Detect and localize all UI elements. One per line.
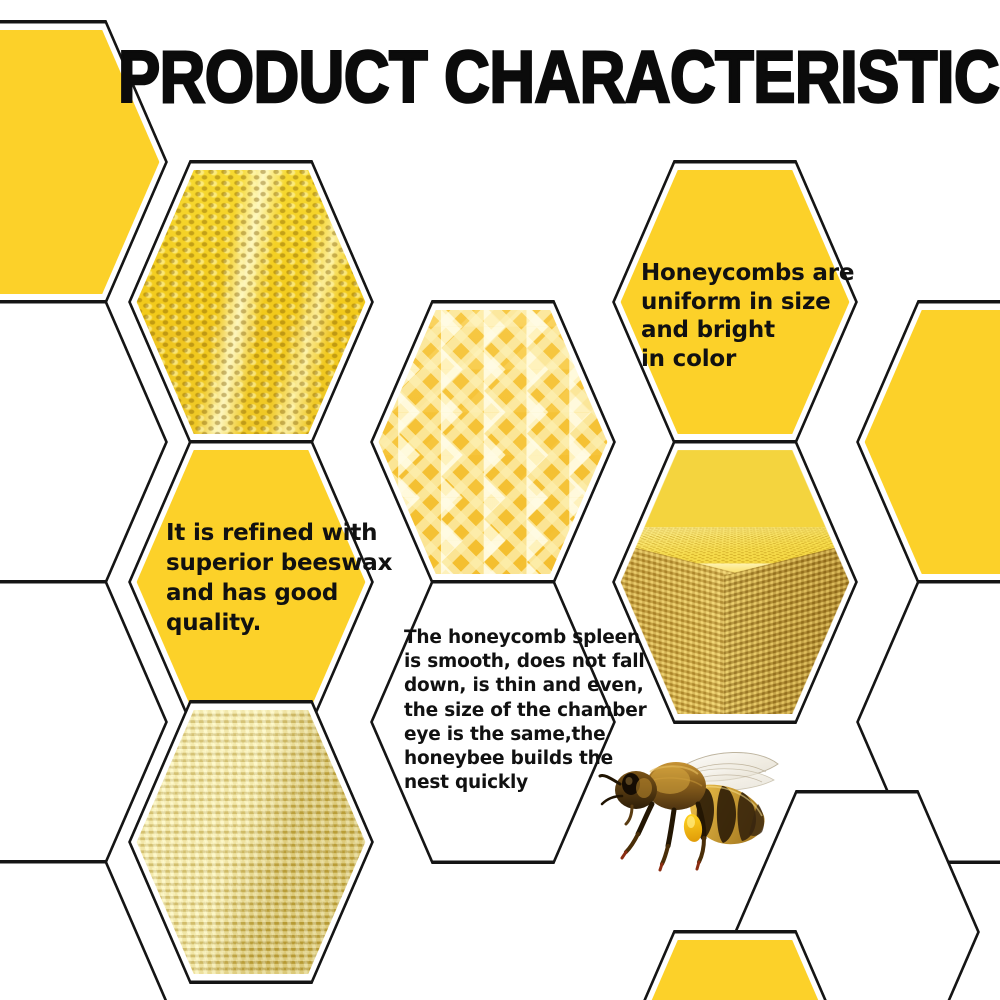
hex-photo-rhombus-comb [370, 300, 616, 584]
honeybee-image [598, 742, 786, 872]
hex-fill [0, 590, 159, 854]
hex-photo-wavy-wax [128, 700, 374, 984]
hex-outline-bottomleft [0, 860, 168, 1000]
feature-text-uniform-size: Honeycombs are uniform in size and brigh… [641, 259, 871, 373]
hex-outline-left-mid [0, 300, 168, 584]
page-title: PRODUCT CHARACTERISTICS [118, 42, 1000, 115]
hex-photo-fine-comb [128, 160, 374, 444]
hex-fill [0, 310, 159, 574]
hex-fill [865, 310, 1000, 574]
poster-canvas: Honeycombs are uniform in size and brigh… [0, 0, 1000, 1000]
hex-right-solid [856, 300, 1000, 584]
feature-text-superior-beeswax: It is refined with superior beeswax and … [166, 518, 401, 638]
